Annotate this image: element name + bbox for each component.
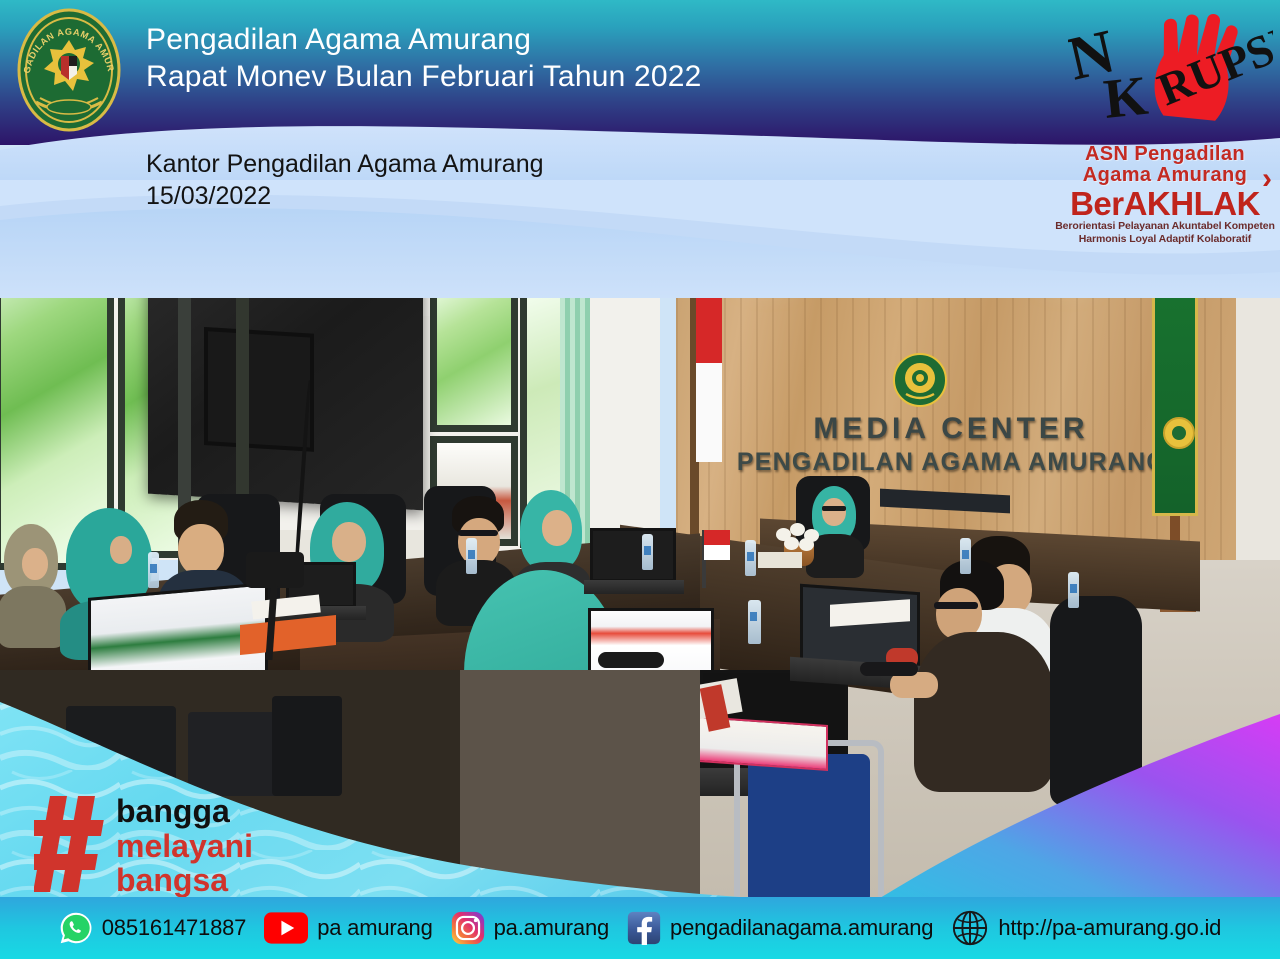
facebook-page: pengadilanagama.amurang: [670, 915, 933, 941]
water-bottle: [745, 540, 756, 576]
water-bottle: [466, 538, 477, 574]
event-location: Kantor Pengadilan Agama Amurang: [146, 148, 544, 180]
svg-text:bangsa: bangsa: [116, 862, 228, 898]
youtube-icon: [264, 912, 308, 944]
indonesian-flag: [696, 272, 722, 462]
whatsapp-number: 085161471887: [102, 915, 246, 941]
no-korupsi-logo: N K RUPSI: [1068, 6, 1273, 126]
flower-bouquet: [772, 522, 828, 552]
subheader-text-block: Kantor Pengadilan Agama Amurang 15/03/20…: [146, 148, 544, 212]
instagram-icon: [451, 911, 485, 945]
berakhlak-title: BerAKHLAK: [1052, 187, 1278, 220]
chevron-right-icon: ›: [1262, 164, 1272, 194]
svg-text:bangga: bangga: [116, 793, 230, 829]
phone-on-table: [598, 652, 664, 668]
contact-bar: 085161471887 pa amurang: [0, 897, 1280, 959]
contact-whatsapp[interactable]: 085161471887: [50, 911, 255, 945]
whatsapp-icon: [59, 911, 93, 945]
water-bottle: [960, 538, 971, 574]
svg-text:K: K: [1101, 65, 1151, 126]
documents-stack: [758, 552, 802, 568]
hashtag-icon: [34, 796, 108, 892]
court-green-flag: [1152, 286, 1198, 516]
berakhlak-logo: ASN Pengadilan Agama Amurang › BerAKHLAK…: [1052, 144, 1278, 266]
water-bottle: [148, 552, 159, 588]
contact-instagram[interactable]: pa.amurang: [442, 911, 618, 945]
poster-root: MEDIA CENTER PENGADILAN AGAMA AMURANG: [0, 0, 1280, 959]
globe-icon: [951, 909, 989, 947]
court-flag-emblem: [1162, 416, 1196, 450]
water-bottle: [642, 534, 653, 570]
svg-text:melayani: melayani: [116, 828, 253, 864]
youtube-channel: pa amurang: [317, 915, 432, 941]
media-center-sign-line2: PENGADILAN AGAMA AMURANG: [712, 448, 1192, 477]
media-center-sign-line1: MEDIA CENTER: [786, 412, 1116, 446]
instagram-handle: pa.amurang: [494, 915, 609, 941]
berakhlak-values-line2: Harmonis Loyal Adaptif Kolaboratif: [1052, 233, 1278, 246]
bangga-melayani-bangsa-logo: bangga melayani bangsa: [34, 790, 274, 900]
facebook-icon: [627, 911, 661, 945]
header-title-line1: Pengadilan Agama Amurang: [146, 22, 702, 59]
water-bottle: [1068, 572, 1079, 608]
camera: [246, 552, 304, 588]
contact-website[interactable]: http://pa-amurang.go.id: [942, 909, 1230, 947]
contact-youtube[interactable]: pa amurang: [255, 912, 441, 944]
berakhlak-line2: Agama Amurang: [1052, 165, 1278, 186]
berakhlak-values-line1: Berorientasi Pelayanan Akuntabel Kompete…: [1052, 220, 1278, 233]
header-title-block: Pengadilan Agama Amurang Rapat Monev Bul…: [146, 22, 702, 95]
desk-indonesian-flag: [704, 530, 730, 560]
event-date: 15/03/2022: [146, 180, 544, 212]
website-url: http://pa-amurang.go.id: [998, 915, 1221, 941]
court-seal-on-wall: [892, 352, 948, 408]
court-seal-logo: PENGADILAN AGAMA AMURANG: [14, 6, 124, 134]
water-bottle: [748, 600, 761, 644]
header-title-line2: Rapat Monev Bulan Februari Tahun 2022: [146, 59, 702, 96]
phone-on-table-2: [860, 662, 918, 676]
berakhlak-line1: ASN Pengadilan: [1052, 144, 1278, 165]
contact-facebook[interactable]: pengadilanagama.amurang: [618, 911, 942, 945]
tv-mount-bracket: [204, 327, 314, 452]
